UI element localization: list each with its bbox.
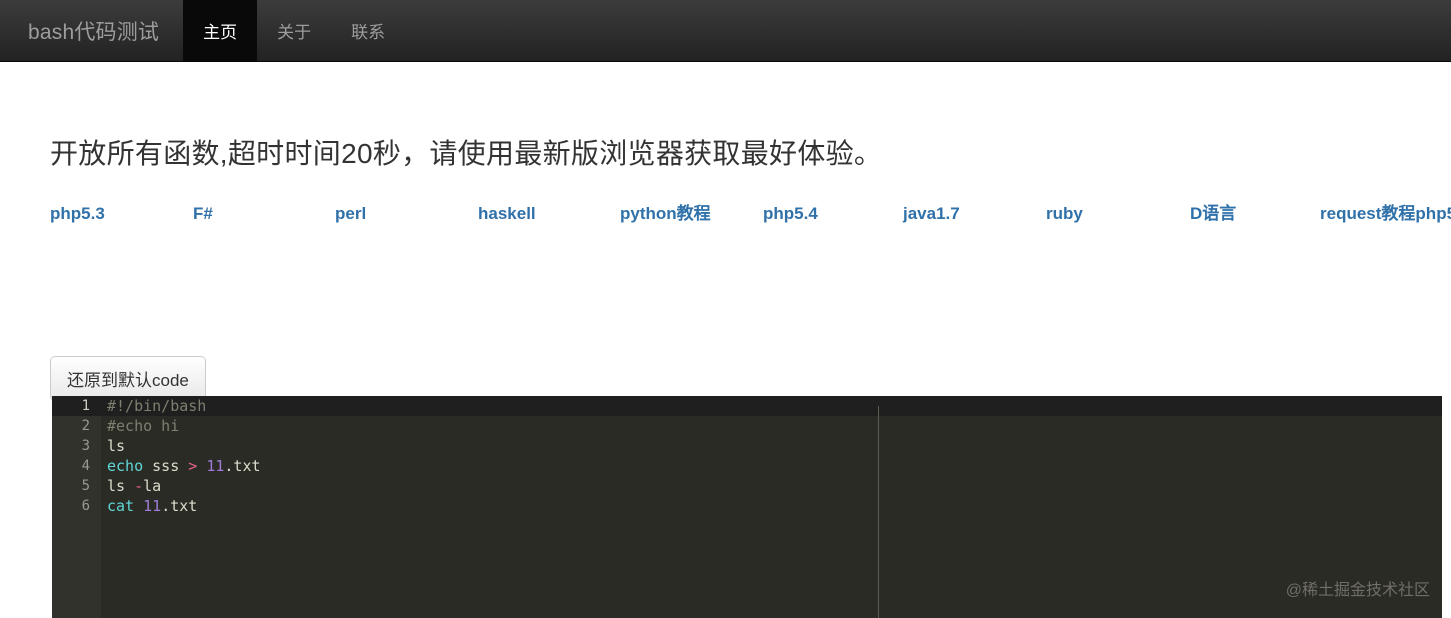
language-link-request教程[interactable]: request教程: [1320, 200, 1415, 229]
code-token: 11: [143, 497, 161, 515]
language-link-php5-4[interactable]: php5.4: [763, 200, 903, 229]
language-link-python教程[interactable]: python教程: [620, 200, 763, 229]
editor-code-line[interactable]: ls -la: [101, 476, 1442, 496]
code-token: ls: [107, 437, 125, 455]
code-token: -: [134, 477, 143, 495]
editor-line-number: 1: [52, 396, 101, 416]
editor-code-line[interactable]: ls: [101, 436, 1442, 456]
editor-code-line[interactable]: echo sss > 11.txt: [101, 456, 1442, 476]
code-token: echo: [107, 457, 143, 475]
code-token: .txt: [224, 457, 260, 475]
code-token: cat: [107, 497, 134, 515]
nav-item-about[interactable]: 关于: [257, 0, 331, 61]
code-token: #echo hi: [107, 417, 179, 435]
code-token: sss: [143, 457, 188, 475]
editor-code-line[interactable]: #echo hi: [101, 416, 1442, 436]
code-token: #!/bin/bash: [107, 397, 206, 415]
editor-line-number: 4: [52, 456, 101, 476]
editor-code-line[interactable]: #!/bin/bash: [101, 396, 1442, 416]
editor-right-edge: [1442, 396, 1451, 618]
code-token: >: [188, 457, 197, 475]
language-link-java1-7[interactable]: java1.7: [903, 200, 1046, 229]
page-headline: 开放所有函数,超时时间20秒，请使用最新版浏览器获取最好体验。: [50, 132, 882, 172]
code-editor[interactable]: 123456 #!/bin/bash#echo hilsecho sss > 1…: [52, 396, 1442, 618]
navbar-brand[interactable]: bash代码测试: [0, 0, 183, 61]
language-link-php5-5[interactable]: php5.5: [1415, 200, 1451, 229]
code-token: .txt: [161, 497, 197, 515]
language-link-f-[interactable]: F#: [193, 200, 335, 229]
editor-line-number-gutter: 123456: [52, 396, 101, 618]
language-link-php5-3[interactable]: php5.3: [50, 200, 193, 229]
editor-code-area[interactable]: #!/bin/bash#echo hilsecho sss > 11.txtls…: [101, 396, 1442, 618]
nav-item-contact[interactable]: 联系: [331, 0, 405, 61]
editor-code-line[interactable]: cat 11.txt: [101, 496, 1442, 516]
code-token: la: [143, 477, 161, 495]
editor-line-number: 2: [52, 416, 101, 436]
editor-line-number: 3: [52, 436, 101, 456]
code-token: ls: [107, 477, 134, 495]
code-token: [197, 457, 206, 475]
editor-line-number: 5: [52, 476, 101, 496]
language-link-ruby[interactable]: ruby: [1046, 200, 1190, 229]
code-token: [134, 497, 143, 515]
navbar-links: 主页 关于 联系: [183, 0, 405, 61]
code-token: 11: [206, 457, 224, 475]
language-link-haskell[interactable]: haskell: [478, 200, 620, 229]
language-link-perl[interactable]: perl: [335, 200, 478, 229]
editor-print-margin-ruler: [878, 406, 879, 618]
editor-line-number: 6: [52, 496, 101, 516]
watermark: @稀土掘金技术社区: [1286, 576, 1430, 600]
reset-to-default-code-button[interactable]: 还原到默认code: [50, 356, 206, 401]
navbar: bash代码测试 主页 关于 联系: [0, 0, 1451, 62]
language-link-d语言[interactable]: D语言: [1190, 200, 1320, 229]
language-link-grid: php5.3F#perlhaskellpython教程php5.4java1.7…: [50, 200, 1430, 229]
nav-item-home[interactable]: 主页: [183, 0, 257, 61]
